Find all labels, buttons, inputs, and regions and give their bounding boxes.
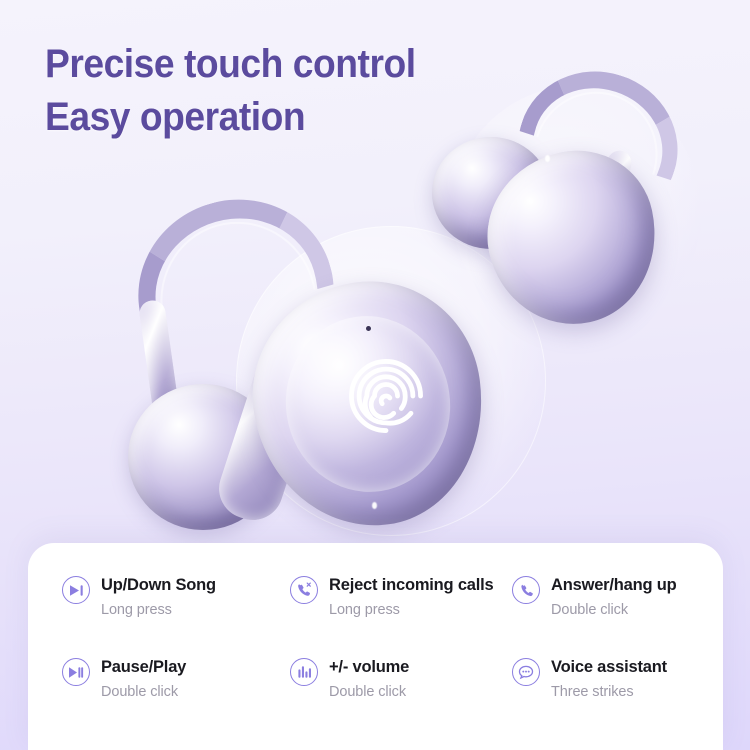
feature-title: Answer/hang up bbox=[551, 576, 677, 594]
feature-action: Three strikes bbox=[551, 684, 667, 701]
fingerprint-icon bbox=[338, 348, 434, 444]
highlight-primary bbox=[372, 502, 377, 509]
voice-bubble-icon bbox=[512, 658, 540, 686]
headline-line-1: Precise touch control bbox=[45, 38, 416, 91]
phone-icon bbox=[512, 576, 540, 604]
call-reject-icon bbox=[290, 576, 318, 604]
feature-action: Double click bbox=[329, 684, 409, 701]
highlight-secondary bbox=[545, 155, 550, 162]
feature-voice-assistant: Voice assistant Three strikes bbox=[512, 657, 705, 701]
next-track-icon bbox=[62, 576, 90, 604]
feature-action: Double click bbox=[101, 684, 186, 701]
microphone-hole bbox=[366, 326, 371, 331]
feature-reject-calls: Reject incoming calls Long press bbox=[290, 575, 512, 619]
feature-answer-hangup: Answer/hang up Double click bbox=[512, 575, 705, 619]
feature-title: Up/Down Song bbox=[101, 576, 216, 594]
feature-title: +/- volume bbox=[329, 658, 409, 676]
feature-title: Pause/Play bbox=[101, 658, 186, 676]
feature-pause-play: Pause/Play Double click bbox=[62, 657, 290, 701]
feature-card: Up/Down Song Long press Reject incoming … bbox=[28, 543, 723, 750]
feature-action: Long press bbox=[329, 602, 494, 619]
feature-up-down-song: Up/Down Song Long press bbox=[62, 575, 290, 619]
feature-grid: Up/Down Song Long press Reject incoming … bbox=[62, 575, 705, 701]
feature-action: Long press bbox=[101, 602, 216, 619]
feature-title: Voice assistant bbox=[551, 658, 667, 676]
headline-line-2: Easy operation bbox=[45, 91, 416, 144]
feature-volume: +/- volume Double click bbox=[290, 657, 512, 701]
feature-action: Double click bbox=[551, 602, 677, 619]
promo-banner: Precise touch control Easy operation bbox=[0, 0, 750, 750]
feature-title: Reject incoming calls bbox=[329, 576, 494, 594]
play-pause-icon bbox=[62, 658, 90, 686]
volume-bars-icon bbox=[290, 658, 318, 686]
page-title: Precise touch control Easy operation bbox=[45, 38, 416, 144]
